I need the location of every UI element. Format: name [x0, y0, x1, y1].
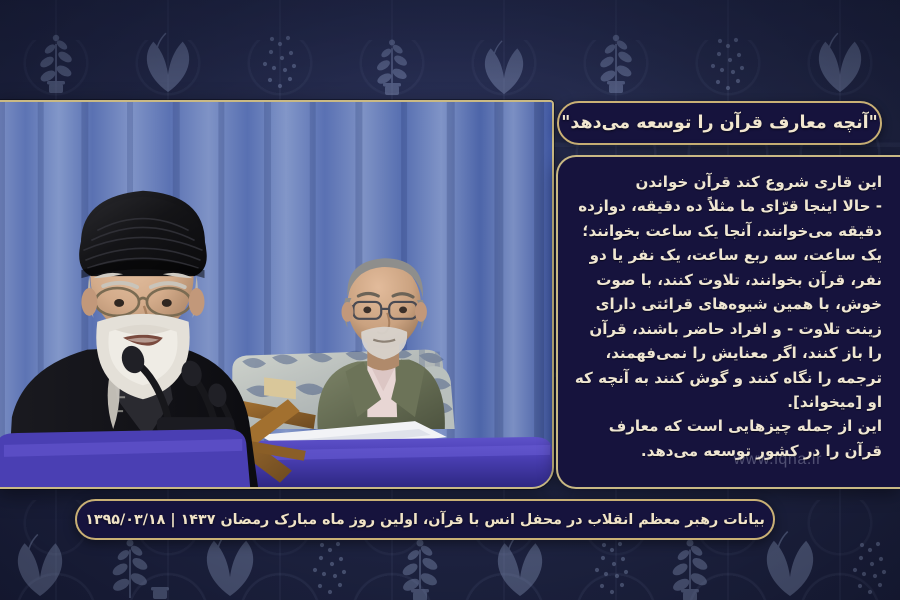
speaker-photo: [0, 102, 552, 487]
site-watermark: www.iqna.ir: [734, 451, 822, 469]
caption-text: بیانات رهبر معظم انقلاب در محفل انس با ق…: [85, 512, 765, 528]
caption-bar: بیانات رهبر معظم انقلاب در محفل انس با ق…: [75, 499, 775, 540]
photo-frame: [0, 100, 554, 489]
quote-title-badge: "آنچه معارف قرآن را توسعه می‌دهد": [557, 101, 882, 145]
quote-title-text: "آنچه معارف قرآن را توسعه می‌دهد": [561, 113, 878, 133]
quote-body-text: این قاری شروع کند قرآن خواندن - حالا این…: [574, 170, 882, 463]
quote-card: "آنچه معارف قرآن را توسعه می‌دهد" این قا…: [0, 0, 900, 600]
quote-body-panel: این قاری شروع کند قرآن خواندن - حالا این…: [556, 155, 900, 489]
